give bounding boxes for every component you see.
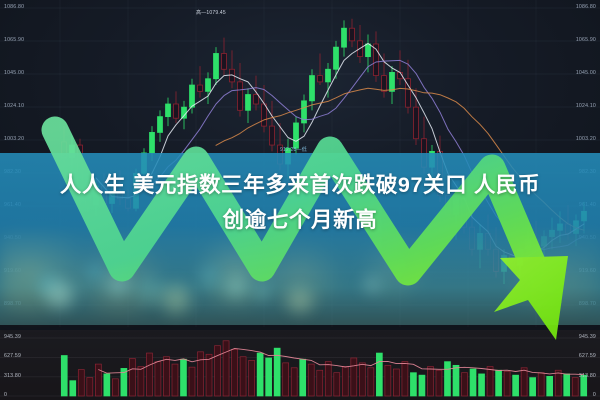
headline-line-2: 创逾七个月新高	[28, 203, 572, 238]
screenshot-root: 1086.801065.901045.001024.101003.20982.3…	[0, 0, 600, 400]
page-title: 人人生 美元指数三年多来首次跌破97关口 人民币 创逾七个月新高	[28, 168, 572, 238]
headline-line-1: 人人生 美元指数三年多来首次跌破97关口 人民币	[60, 173, 540, 197]
arrow-head	[494, 256, 568, 340]
